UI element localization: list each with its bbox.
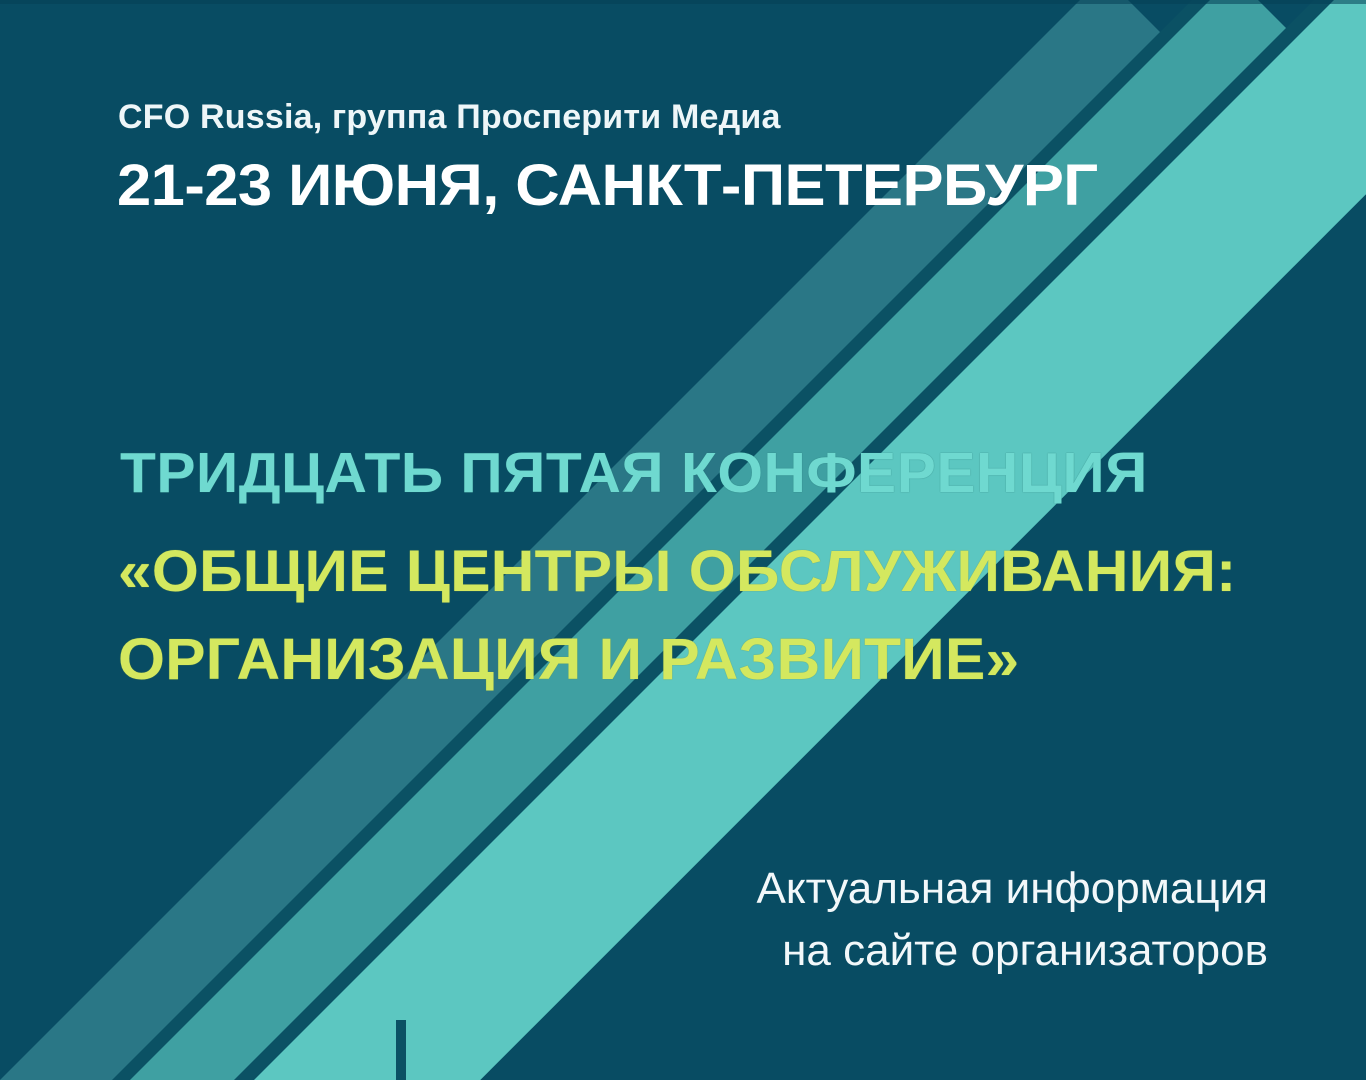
footer-note-line-1: Актуальная информация <box>757 858 1268 920</box>
conference-title-line-2: ОРГАНИЗАЦИЯ И РАЗВИТИЕ» <box>118 616 1237 704</box>
conference-number-heading: ТРИДЦАТЬ ПЯТАЯ КОНФЕРЕНЦИЯ <box>120 440 1148 506</box>
conference-title-line-1: «ОБЩИЕ ЦЕНТРЫ ОБСЛУЖИВАНИЯ: <box>118 528 1237 616</box>
footer-note: Актуальная информация на сайте организат… <box>757 858 1268 982</box>
slide-content: CFO Russia, группа Просперити Медиа 21-2… <box>0 0 1366 1080</box>
organizer-line: CFO Russia, группа Просперити Медиа <box>118 98 781 137</box>
conference-title: «ОБЩИЕ ЦЕНТРЫ ОБСЛУЖИВАНИЯ: ОРГАНИЗАЦИЯ … <box>118 528 1237 704</box>
conference-title-slide: CFO Russia, группа Просперити Медиа 21-2… <box>0 0 1366 1080</box>
event-dateline: 21-23 ИЮНЯ, САНКТ-ПЕТЕРБУРГ <box>117 152 1098 219</box>
footer-note-line-2: на сайте организаторов <box>757 920 1268 982</box>
